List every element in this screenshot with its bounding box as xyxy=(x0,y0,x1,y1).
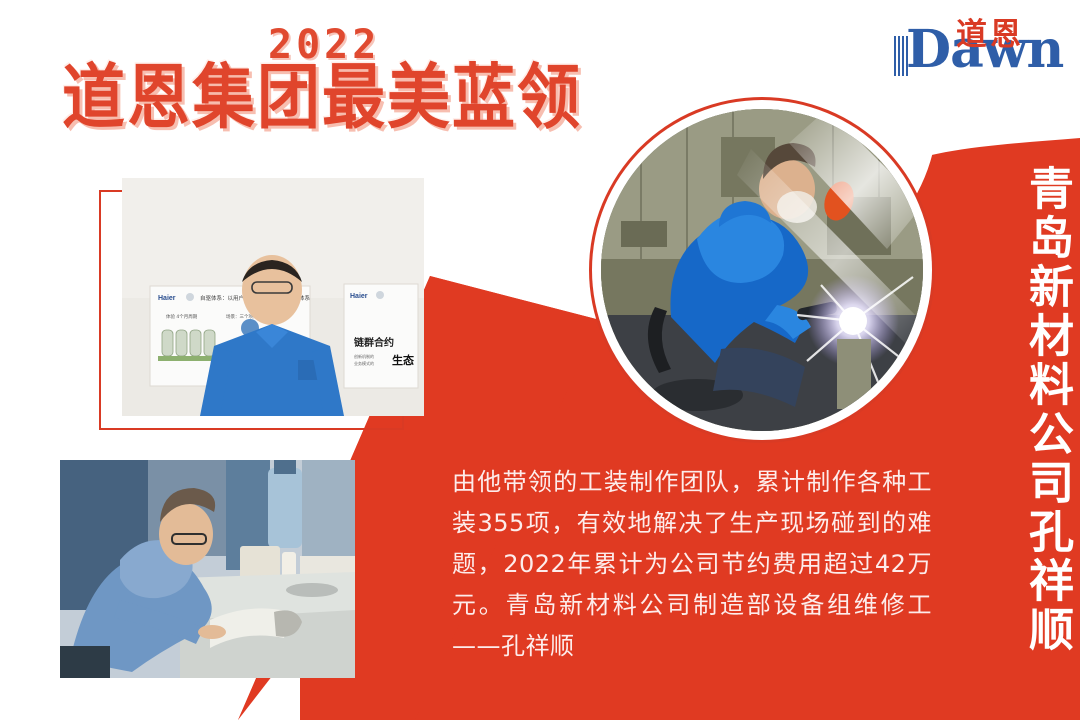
portrait-scene: Haier 自驱体系：以用户体验迭代为核心的动态体系 体验 4个月周期 场景：三… xyxy=(122,178,424,416)
poster-canvas: 2022 道恩集团最美蓝领 Dawn 道恩 Haier 自驱体系：以用户体验迭代… xyxy=(0,0,1080,720)
body-paragraph: 由他带领的工装制作团队，累计制作各种工装355项，有效地解决了生产现场碰到的难题… xyxy=(452,462,932,667)
logo-chinese-name: 道恩 xyxy=(956,20,1024,51)
vertical-subject-title: 青岛新材料公司孔祥顺 xyxy=(1008,165,1072,665)
svg-text:创新机制的: 创新机制的 xyxy=(354,353,374,359)
photo-portrait-worker: Haier 自驱体系：以用户体验迭代为核心的动态体系 体验 4个月周期 场景：三… xyxy=(122,178,424,416)
svg-text:生态: 生态 xyxy=(392,353,414,367)
welding-scene xyxy=(601,109,923,431)
svg-text:Haier: Haier xyxy=(158,295,176,302)
brand-logo[interactable]: Dawn 道恩 xyxy=(894,20,1054,92)
svg-text:Haier: Haier xyxy=(350,293,368,300)
photo-welding-worker-frame xyxy=(592,100,932,440)
page-title: 道恩集团最美蓝领 xyxy=(62,62,582,133)
svg-text:业务模式的: 业务模式的 xyxy=(354,360,374,366)
photo-welding-worker xyxy=(601,109,923,431)
svg-text:链群合约: 链群合约 xyxy=(353,336,394,349)
photo-measuring-worker xyxy=(60,460,355,678)
svg-text:体验 4个月周期: 体验 4个月周期 xyxy=(166,313,198,320)
measuring-scene xyxy=(60,460,355,678)
